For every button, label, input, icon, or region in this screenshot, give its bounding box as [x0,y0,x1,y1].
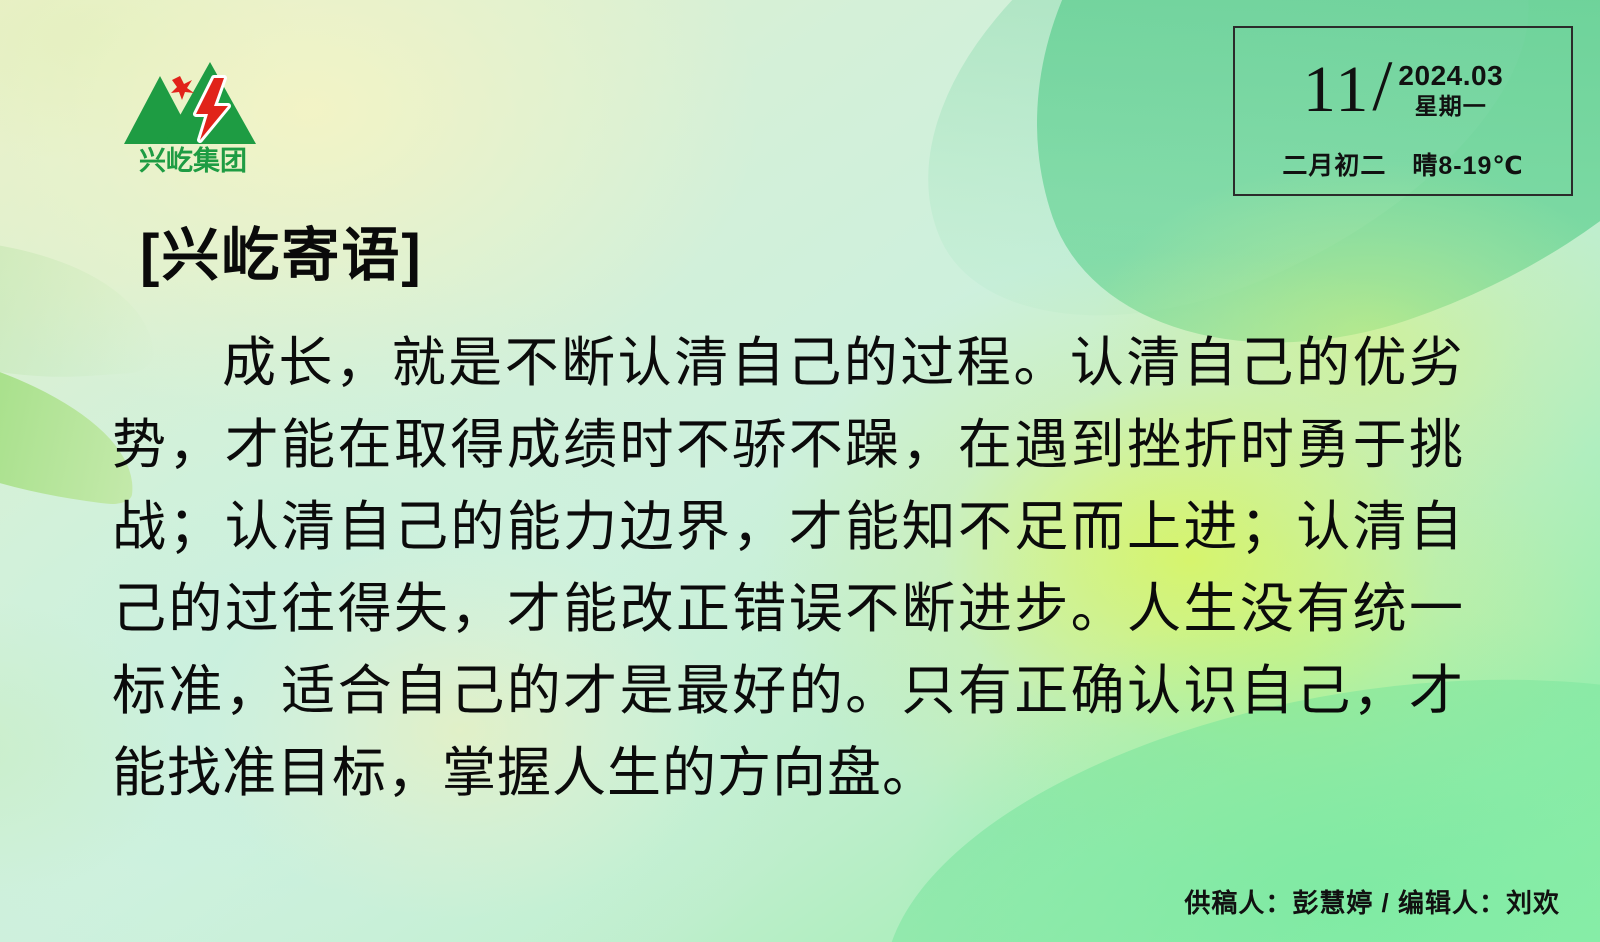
logo-wordmark: 兴屹集团 [139,145,247,176]
date-weekday: 星期一 [1415,92,1487,122]
poster-canvas: 兴屹集团 11 / 2024.03 星期一 二月初二 晴8-19℃ [兴屹寄语]… [0,0,1600,942]
date-year-month: 2024.03 [1398,60,1503,92]
date-card-bottom-row: 二月初二 晴8-19℃ [1235,146,1571,182]
star-icon [171,76,194,100]
weather-info: 晴8-19℃ [1412,146,1523,182]
date-year-month-block: 2024.03 星期一 [1398,54,1503,122]
page-title: [兴屹寄语] [140,208,423,292]
date-lunar: 二月初二 [1282,146,1386,182]
company-logo: 兴屹集团 [118,48,268,176]
article-body: 成长，就是不断认清自己的过程。认清自己的优劣势，才能在取得成绩时不骄不躁，在遇到… [112,322,1464,814]
date-card-top-row: 11 / 2024.03 星期一 [1235,54,1571,122]
date-separator-slash: / [1372,54,1392,119]
footer-credit: 供稿人：彭慧婷 / 编辑人：刘欢 [1184,883,1560,920]
date-card: 11 / 2024.03 星期一 二月初二 晴8-19℃ [1233,26,1573,196]
date-day-number: 11 [1303,54,1371,121]
